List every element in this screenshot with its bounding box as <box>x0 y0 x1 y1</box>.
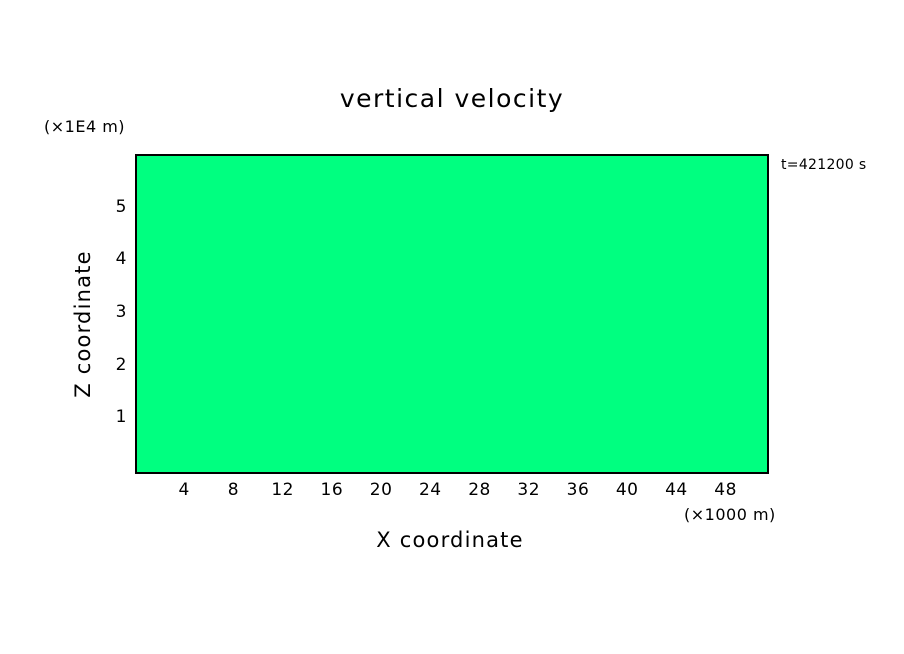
y-tick-label: 5 <box>105 197 127 217</box>
y-axis-title: Z coordinate <box>71 234 95 414</box>
x-tick-label: 24 <box>419 480 442 500</box>
x-tick-label: 8 <box>228 480 239 500</box>
x-tick-label: 32 <box>517 480 540 500</box>
x-tick-label: 16 <box>321 480 344 500</box>
contour-field-canvas <box>137 156 767 472</box>
y-tick-label: 1 <box>105 407 127 427</box>
x-tick-label: 36 <box>567 480 590 500</box>
page-title: vertical velocity <box>0 84 904 113</box>
colorbar <box>779 202 803 518</box>
x-axis-unit-label: (×1000 m) <box>684 505 776 524</box>
y-axis-unit-label: (×1E4 m) <box>44 117 125 136</box>
x-tick-label: 4 <box>179 480 190 500</box>
colorbar-swatches <box>779 202 803 518</box>
contour-plot-area <box>135 154 769 474</box>
x-axis-title: X coordinate <box>135 528 765 552</box>
x-tick-label: 44 <box>665 480 688 500</box>
x-tick-label: 20 <box>370 480 393 500</box>
y-tick-label: 4 <box>105 249 127 269</box>
x-tick-label: 40 <box>616 480 639 500</box>
y-tick-label: 2 <box>105 355 127 375</box>
x-tick-label: 28 <box>468 480 491 500</box>
x-tick-label: 48 <box>714 480 737 500</box>
x-tick-label: 12 <box>271 480 294 500</box>
timestamp-annotation: t=421200 s <box>781 157 866 173</box>
y-tick-label: 3 <box>105 302 127 322</box>
